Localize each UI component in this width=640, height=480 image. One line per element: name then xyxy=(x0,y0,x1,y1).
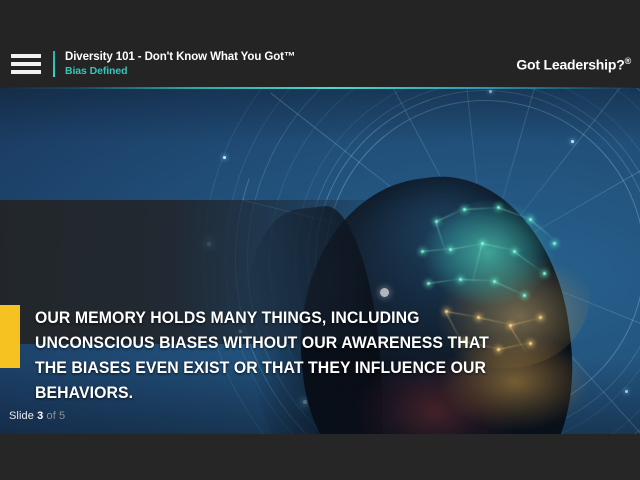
brand-logo-text: Got Leadership? xyxy=(516,56,624,72)
hamburger-bar-1 xyxy=(11,54,41,58)
course-title: Diversity 101 - Don't Know What You Got™ xyxy=(65,51,295,65)
hamburger-bar-3 xyxy=(11,70,41,74)
hamburger-menu-icon[interactable] xyxy=(11,54,41,74)
hud-node xyxy=(489,90,492,93)
brand-logo: Got Leadership?® xyxy=(516,56,631,73)
caption-accent-bar xyxy=(0,305,20,368)
slide-header: Diversity 101 - Don't Know What You Got™… xyxy=(0,40,640,88)
header-divider xyxy=(53,51,55,77)
hud-node xyxy=(571,140,574,143)
lesson-subtitle: Bias Defined xyxy=(65,65,295,77)
slide-counter-current: 3 xyxy=(37,410,43,422)
slide-footer: Slide 3 of 5 xyxy=(0,434,640,480)
slide-caption: OUR MEMORY HOLDS MANY THINGS, INCLUDING … xyxy=(35,305,519,405)
header-accent-rule xyxy=(0,87,640,89)
slide-counter: Slide 3 of 5 xyxy=(0,410,65,422)
slide-counter-label: Slide xyxy=(9,410,34,422)
slide-counter-total: of 5 xyxy=(47,410,66,422)
header-titles: Diversity 101 - Don't Know What You Got™… xyxy=(65,51,295,78)
hud-node xyxy=(223,156,226,159)
hamburger-bar-2 xyxy=(11,62,41,66)
registered-trademark-icon: ® xyxy=(625,56,631,66)
presentation-viewer: Diversity 101 - Don't Know What You Got™… xyxy=(0,0,640,480)
hud-node xyxy=(625,390,628,393)
